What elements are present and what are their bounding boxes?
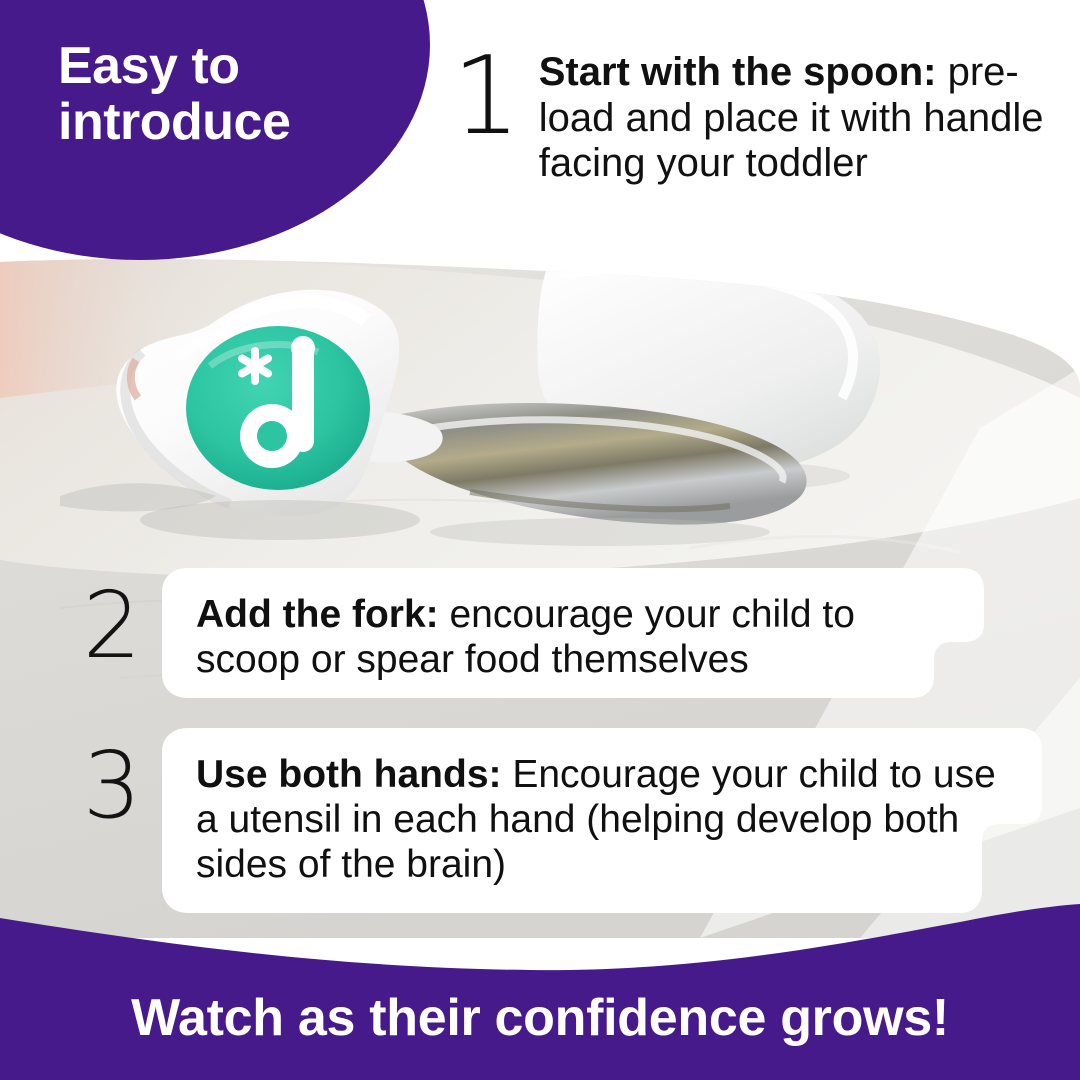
step-3-card: Use both hands: Encourage your child to … [162,728,1052,913]
step-3-number: 3 [62,740,162,832]
step-1: 1 Start with the spoon: pre-load and pla… [452,42,1066,187]
bottom-banner: Watch as their confidence grows! [0,900,1080,1080]
badge-line-1: Easy to [58,38,378,94]
step-3-lead: Use both hands: [196,753,502,796]
badge-line-2: introduce [58,94,378,150]
step-3-text: Use both hands: Encourage your child to … [162,728,1032,888]
step-2: 2 Add the fork: encourage your child to … [62,568,992,698]
step-2-text: Add the fork: encourage your child to sc… [162,568,968,682]
easy-to-introduce-label: Easy to introduce [58,38,378,150]
step-1-number: 1 [452,44,521,150]
step-2-number: 2 [62,580,162,672]
step-3: 3 Use both hands: Encourage your child t… [62,728,1052,913]
step-2-lead: Add the fork: [196,593,439,636]
infographic-canvas: Easy to introduce 1 Start with the spoon… [0,0,1080,1080]
step-1-lead: Start with the spoon: [539,50,937,94]
step-1-text: Start with the spoon: pre-load and place… [539,42,1066,187]
banner-headline: Watch as their confidence grows! [0,988,1080,1048]
step-2-card: Add the fork: encourage your child to sc… [162,568,992,698]
